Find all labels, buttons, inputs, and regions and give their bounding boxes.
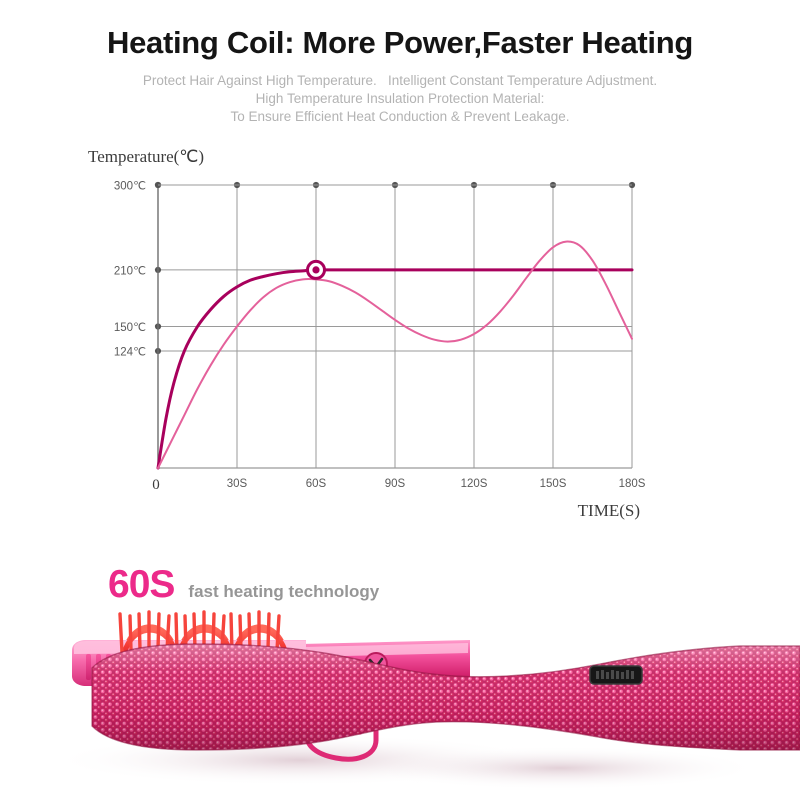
x-tick-label: 90S [385, 478, 406, 490]
x-tick-label: 30S [227, 478, 248, 490]
x-tick-label: 120S [461, 478, 488, 490]
header: Heating Coil: More Power,Faster Heating … [0, 0, 800, 126]
chart-annotations [308, 261, 325, 278]
y-tick-label: 210℃ [114, 265, 146, 277]
tagline-text: fast heating technology [188, 583, 379, 600]
origin-label: 0 [152, 477, 160, 493]
y-tick-label: 300℃ [114, 181, 146, 193]
display-panel[interactable] [590, 666, 642, 684]
y-tick-label: 124℃ [114, 347, 146, 359]
chart-labels: 300℃210℃150℃124℃30S60S90S120S150S180STem… [88, 147, 646, 520]
tagline-highlight: 60S [108, 565, 174, 604]
page-title: Heating Coil: More Power,Faster Heating [0, 0, 800, 60]
target-marker-dot [312, 266, 319, 273]
chart-canvas: 300℃210℃150℃124℃30S60S90S120S150S180STem… [0, 140, 800, 530]
chart-gridlines [155, 182, 635, 468]
product-image [0, 600, 800, 800]
temperature-chart: 300℃210℃150℃124℃30S60S90S120S150S180STem… [0, 140, 800, 530]
product-illustration [0, 600, 800, 800]
subtitle-line-1: Protect Hair Against High Temperature. I… [0, 72, 800, 90]
x-tick-label: 60S [306, 478, 327, 490]
y-axis-title: Temperature(℃) [88, 147, 204, 166]
x-tick-label: 150S [540, 478, 567, 490]
x-axis-title: TIME(S) [578, 501, 640, 520]
y-tick-label: 150℃ [114, 322, 146, 334]
subtitle-line-3: To Ensure Efficient Heat Conduction & Pr… [0, 108, 800, 126]
subtitle-block: Protect Hair Against High Temperature. I… [0, 72, 800, 126]
subtitle-line-2: High Temperature Insulation Protection M… [0, 90, 800, 108]
tagline: 60S fast heating technology [108, 565, 379, 604]
x-tick-label: 180S [619, 478, 646, 490]
product-shadow-2 [360, 746, 760, 790]
